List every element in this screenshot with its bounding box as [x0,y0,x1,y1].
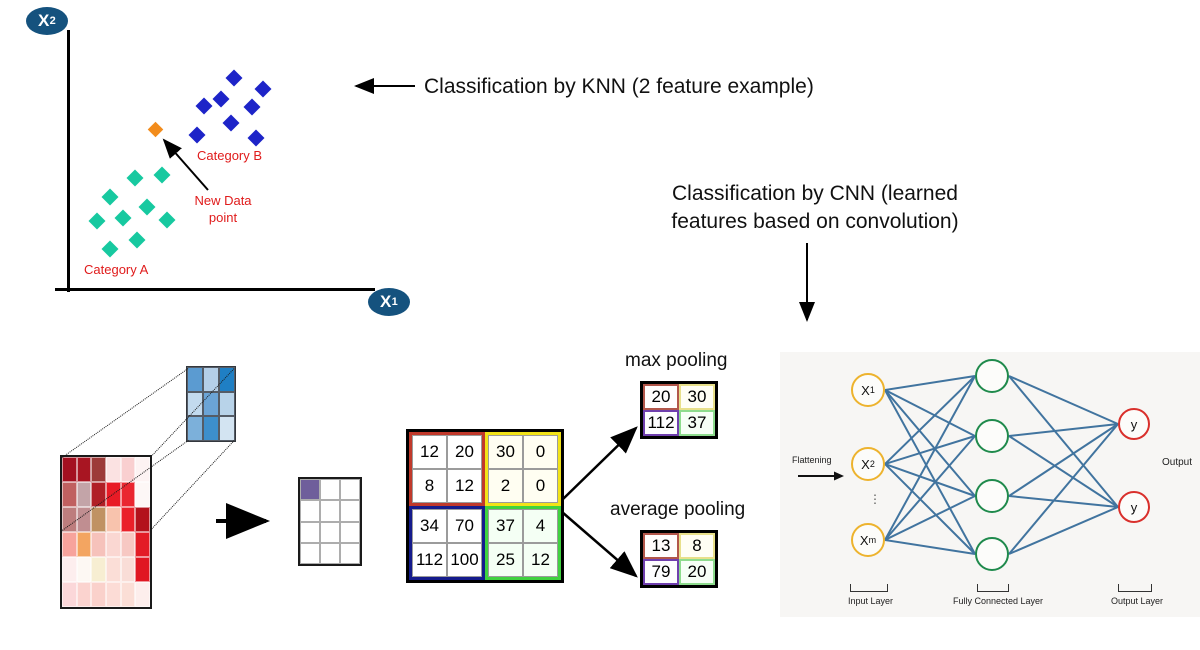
nn-node-label-sub: 1 [870,385,875,395]
nn-node-label: X [861,383,870,398]
x-axis-line [55,288,375,291]
matrix-cell: 4 [523,509,558,543]
input-layer-brace [850,584,888,592]
feature-map-cell-active [300,479,320,500]
matrix-cell: 34 [412,509,447,543]
matrix-cell: 12 [447,469,482,503]
nn-edge [885,496,975,540]
heatmap-cell [77,557,92,582]
nn-hidden-node [975,479,1009,513]
feature-map-grid [298,477,362,566]
kernel-cell [203,367,219,392]
heatmap-cell [77,457,92,482]
matrix-cell: 20 [447,435,482,469]
heatmap-cell [135,507,150,532]
matrix-cell: 12 [523,543,558,577]
matrix-cell: 112 [412,543,447,577]
cnn-caption: Classification by CNN (learned features … [645,180,985,236]
nn-node-label: y [1131,417,1138,432]
nn-edge [885,540,975,554]
new-data-line-2: point [178,209,268,226]
nn-node-label-sub: 2 [870,459,875,469]
feature-map-cell [320,543,340,564]
feature-map-cell [300,500,320,521]
scatter-point-category-a [159,212,176,229]
knn-caption: Classification by KNN (2 feature example… [424,73,814,101]
heatmap-cell [62,532,77,557]
x-axis-label-text: X [380,292,392,312]
heatmap-cell [77,482,92,507]
scatter-point-category-a [129,232,146,249]
cnn-caption-line2: features based on convolution) [645,208,985,236]
kernel-cell [187,367,203,392]
kernel-projection-line [150,440,235,531]
nn-edge [1009,496,1118,507]
scatter-point-category-a [139,199,156,216]
max-pooling-cell: 37 [679,410,715,436]
heatmap-cell [106,557,121,582]
average-pooling-cell: 13 [643,533,679,559]
nn-hidden-node [975,419,1009,453]
heatmap-cell [135,557,150,582]
nn-output-node: y [1118,408,1150,440]
nn-edge [1009,376,1118,507]
y-axis-label-sub: 2 [50,15,56,27]
average-pooling-grid: 1387920 [640,530,718,588]
y-axis-label-pill: X2 [26,7,68,35]
max-pooling-cell: 30 [679,384,715,410]
feature-map-cell [340,500,360,521]
max-pooling-cell: 112 [643,410,679,436]
category-b-label: Category B [197,148,262,163]
nn-input-node: Xm [851,523,885,557]
feature-map-cell [320,479,340,500]
matrix-cell: 0 [523,469,558,503]
scatter-point-category-b [244,99,261,116]
matrix-quadrant-top-right: 30020 [485,432,561,506]
scatter-point-category-a [127,170,144,187]
feature-map-cell [300,522,320,543]
feature-map-cell [340,543,360,564]
scatter-point-category-b [189,127,206,144]
scatter-point-category-a [89,213,106,230]
heatmap-cell [91,582,106,607]
matrix-quadrant-bottom-right: 3742512 [485,506,561,580]
nn-edge [885,464,975,554]
scatter-point-category-b [196,98,213,115]
matrix-quadrant-bottom-left: 3470112100 [409,506,485,580]
heatmap-cell [135,532,150,557]
scatter-point-category-a [115,210,132,227]
x-axis-label-sub: 1 [392,296,398,308]
feature-map-cell [320,500,340,521]
average-pooling-title: average pooling [610,499,745,521]
kernel-cell [203,416,219,441]
scatter-point-category-b [213,91,230,108]
feature-map-cell [340,479,360,500]
cnn-caption-line1: Classification by CNN (learned [645,180,985,208]
nn-edge [885,376,975,540]
scatter-point-category-a [102,189,119,206]
nn-edge [1009,376,1118,424]
nn-hidden-node [975,359,1009,393]
output-layer-brace [1118,584,1152,592]
heatmap-cell [106,582,121,607]
heatmap-cell [77,582,92,607]
x-axis-label-pill: X1 [368,288,410,316]
heatmap-cell [91,507,106,532]
nn-edge [1009,424,1118,554]
matrix-cell: 30 [488,435,523,469]
y-axis-label-text: X [38,11,50,31]
heatmap-cell [135,582,150,607]
nn-output-node: y [1118,491,1150,523]
new-data-point-label: New Data point [178,192,268,226]
max-pooling-title: max pooling [625,350,727,372]
input-heatmap-grid [60,455,152,609]
new-data-line-1: New Data [178,192,268,209]
heatmap-cell [77,532,92,557]
scatter-point-category-b [255,81,272,98]
matrix-cell: 12 [412,435,447,469]
matrix-quadrant-top-left: 1220812 [409,432,485,506]
max-pooling-arrow-icon [562,428,636,500]
extracted-kernel-patch [186,366,236,442]
heatmap-cell [62,582,77,607]
average-pooling-cell: 20 [679,559,715,585]
kernel-projection-line [62,368,189,458]
flattening-arrow-icon [798,470,844,482]
heatmap-cell [135,482,150,507]
heatmap-cell [62,557,77,582]
feature-map-cell [340,522,360,543]
nn-hidden-node [975,537,1009,571]
nn-edge [1009,436,1118,507]
output-label: Output [1162,457,1192,468]
matrix-cell: 100 [447,543,482,577]
matrix-cell: 25 [488,543,523,577]
heatmap-cell [106,507,121,532]
neural-network-panel: X1X2Xmyy ⋮ Flattening Output Input Layer… [780,352,1200,617]
heatmap-cell [91,532,106,557]
nn-edge [885,390,975,554]
hidden-layer-brace [977,584,1009,592]
average-pooling-cell: 8 [679,533,715,559]
scatter-point-new-data [148,122,164,138]
nn-node-label: y [1131,500,1138,515]
kernel-cell [219,416,235,441]
category-a-label: Category A [84,262,148,277]
matrix-cell: 0 [523,435,558,469]
heatmap-cell [62,457,77,482]
matrix-cell: 70 [447,509,482,543]
heatmap-cell [62,482,77,507]
scatter-point-category-a [102,241,119,258]
y-axis-line [67,30,70,292]
nn-input-node: X1 [851,373,885,407]
feature-map-cell [320,522,340,543]
kernel-cell [219,392,235,417]
heatmap-cell [121,532,136,557]
nn-node-label: X [860,533,869,548]
average-pooling-cell: 79 [643,559,679,585]
nn-input-node: X2 [851,447,885,481]
matrix-cell: 37 [488,509,523,543]
nn-node-label-sub: m [869,535,877,545]
matrix-cell: 8 [412,469,447,503]
heatmap-cell [106,532,121,557]
scatter-point-category-a [154,167,171,184]
heatmap-cell [121,507,136,532]
scatter-point-category-b [223,115,240,132]
output-layer-label: Output Layer [1111,596,1163,606]
input-layer-label: Input Layer [848,596,893,606]
knn-scatter-panel: X2 X1 Category B Category A New Data poi… [0,0,430,330]
flattening-label: Flattening [792,455,832,465]
kernel-cell [203,392,219,417]
feature-matrix: 1220812 30020 3470112100 3742512 [406,429,564,583]
feature-map-cell [300,543,320,564]
heatmap-cell [121,582,136,607]
heatmap-cell [106,457,121,482]
heatmap-cell [91,557,106,582]
matrix-cell: 2 [488,469,523,503]
scatter-point-category-b [226,70,243,87]
heatmap-cell [121,557,136,582]
heatmap-cell [91,457,106,482]
scatter-point-category-b [248,130,265,147]
max-pooling-cell: 20 [643,384,679,410]
hidden-layer-label: Fully Connected Layer [953,596,1043,606]
nn-edge [1009,507,1118,554]
max-pooling-grid: 203011237 [640,381,718,439]
input-ellipsis-icon: ⋮ [869,492,881,506]
kernel-cell [187,416,203,441]
average-pooling-arrow-icon [562,512,636,576]
nn-node-label: X [861,457,870,472]
